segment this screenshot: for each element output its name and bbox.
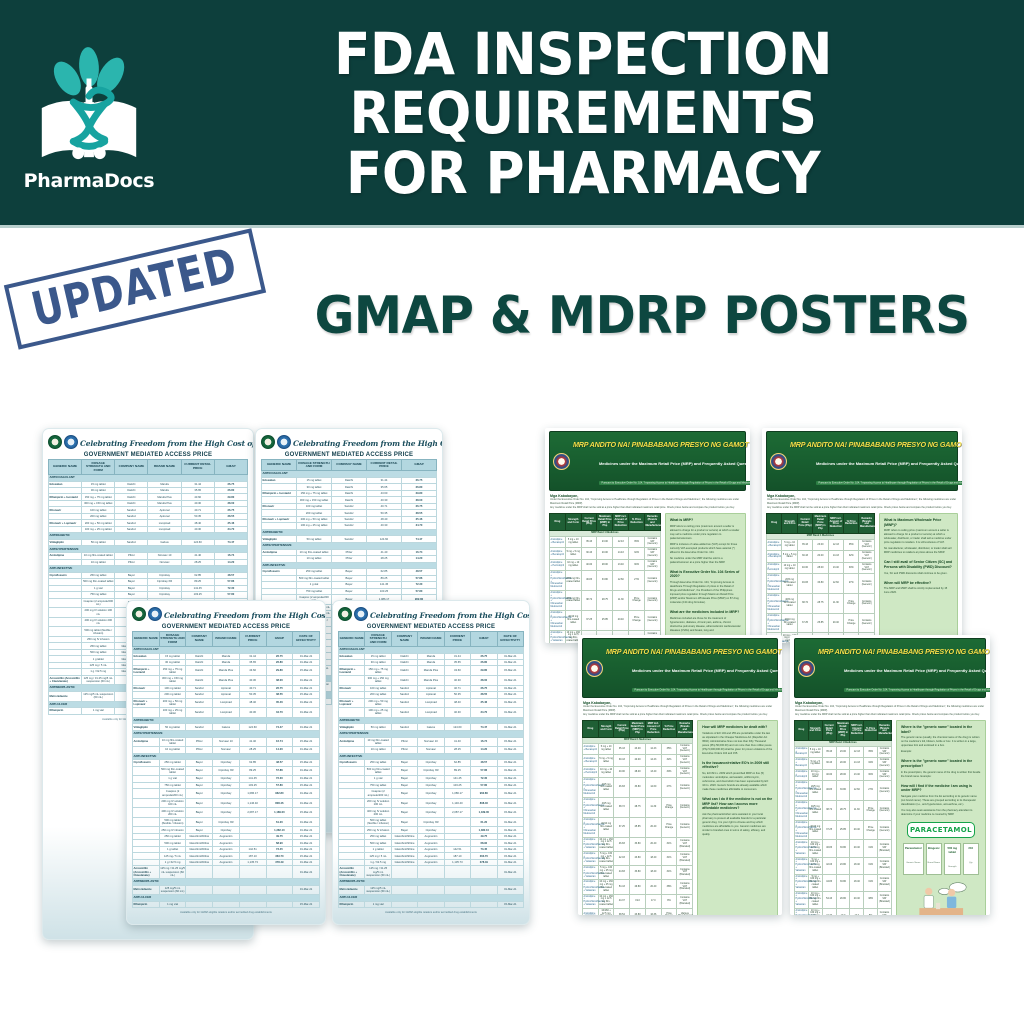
gmap-cell: Rifampicin xyxy=(133,901,160,907)
mdrp-cell: 20.00 xyxy=(630,755,646,766)
mdrp-cell: 20.40 xyxy=(850,840,864,857)
mdrp-cell: 23.00 xyxy=(630,743,646,754)
mdrp-banner-title: MRP ANDITO NA! PINABABANG PRESYO NG GAMO… xyxy=(818,647,990,656)
gmap-cell: 125 mg/5 mL suspension (60 mL) xyxy=(365,885,391,895)
gmap-cell: 01-Mar-21 xyxy=(293,676,320,686)
gmap-category-cell: ANTIHYPERTENSIVE xyxy=(49,546,248,553)
table-row: Amlodipine + Hydrochlorothiazide + Valsa… xyxy=(795,891,892,908)
mdrp-cell: 35.43 xyxy=(581,536,597,547)
gmap-cell: 48.40 xyxy=(239,698,266,708)
gmap-cell: Ciprobay XR xyxy=(418,817,444,827)
mdrp-cell: 5 mg + 10 mg tablet xyxy=(598,743,614,754)
mdrp-cell: Contains VAT (Generic) xyxy=(859,539,874,550)
mdrp-cell: 40/10 mg film-coated tablet xyxy=(598,817,614,837)
mdrp-cell: Price Change xyxy=(661,817,677,837)
gmap-cell: 200 mg + 50 mg tablet xyxy=(159,698,186,708)
mdrp-intro-text-2: Any medicine under the MRP shall not be … xyxy=(795,713,985,717)
mdrp-cell: Amlodipine + Benazepril xyxy=(767,551,782,562)
mdrp-cell: 31% xyxy=(864,840,878,857)
mdrp-cell: 20.40 xyxy=(850,891,864,908)
gmap-col-brand: BRAND NAME xyxy=(213,632,240,647)
gmap-cell: 1,146.40 xyxy=(444,798,470,808)
faq-answer: The generic name (usually, the chemical … xyxy=(901,736,981,748)
gmap-cell: Daiichi xyxy=(391,666,417,676)
table-row: Cuaprex (2 ampoule/200 mL)BayerCiprobay1… xyxy=(339,789,524,799)
table-row: Amlodipine + Perindopril10 mg + 10 mg ta… xyxy=(795,769,892,780)
mdrp-col-amount-reduction: MRP incl. Amount of Price Reduction xyxy=(850,721,864,740)
mdrp-banner: MRP ANDITO NA! PINABABANG PRESYO NG GAMO… xyxy=(549,431,746,491)
gmap-cell xyxy=(133,676,160,686)
table-row: Amlodipine + Benazepril5 mg + 10 mg tabl… xyxy=(767,539,875,550)
republic-seal-icon xyxy=(132,607,146,621)
mdrp-cell: Amlodipine + Hydrochlorothiazide + Valsa… xyxy=(583,880,599,894)
updated-stamp: UPDATED xyxy=(4,228,266,349)
gmap-cell: Metronidazole xyxy=(339,885,365,895)
mdrp-cell: Amlodipine + Hydrochlorothiazide + Olmes… xyxy=(795,820,809,840)
mdrp-cell: 20/5 mg film-coated tablet xyxy=(565,571,581,591)
gmap-col-company: COMPANY NAME xyxy=(391,632,417,647)
mdrp-cell: Amlodipine + Perindopril xyxy=(795,769,809,780)
mdrp-cell: 46.83 xyxy=(614,837,630,851)
mdrp-cell: 10 mg + 10 mg tablet xyxy=(565,559,581,570)
table-row: Amlodipine10 mg film-coated tabletPfizer… xyxy=(133,737,320,747)
table-row: Amlodipine + Hydrochlorothiazide + Olmes… xyxy=(795,800,892,820)
mdrp-cell: 35.43 xyxy=(614,743,630,754)
gmap-cell xyxy=(339,789,365,799)
mdrp-cell: Amlodipine + Hydrochlorothiazide + Valsa… xyxy=(583,894,599,908)
gmap-col-gmap: GMAP xyxy=(471,632,497,647)
gmap-cell: 16.74 xyxy=(471,737,497,747)
gmap-cell: 150 mg + 75 mg tablet xyxy=(365,666,391,676)
mdrp-cell: Contains VAT (Branded) xyxy=(677,880,693,894)
gmap-cell: 1 mg vial xyxy=(159,901,186,907)
mdrp-cell: 12.43 xyxy=(850,746,864,757)
table-row: 400 mg IV solution 200 mLBayerCiprobay2,… xyxy=(339,808,524,818)
table-row: Amlodipine + Benazepril5 mg + 5 mg table… xyxy=(550,548,661,559)
mdrp-cell: Amlodipine + Hydrochlorothiazide + Olmes… xyxy=(550,571,566,591)
gmap-band-title: GOVERNMENT MEDIATED ACCESS PRICE xyxy=(261,452,437,458)
mdrp-cell: 38.72 xyxy=(822,800,836,820)
faq-question: What is Maximum Wholesale Price (MWP)? xyxy=(884,518,953,527)
mdrp-col-strength: Strength and Form xyxy=(782,514,797,533)
table-row: Amlodipine + Hydrochlorothiazide + Valsa… xyxy=(583,837,693,851)
gmap-cell xyxy=(133,808,160,818)
mdrp-cell: 8% xyxy=(661,894,677,908)
mdrp-cell: 28.00 xyxy=(813,562,828,573)
mdrp-cell: 5 mg + 5 mg tablet xyxy=(598,755,614,766)
table-row: 200 mg IV solution 100 mLBayerCiprobay1,… xyxy=(133,798,320,808)
rx-example-name: Biogesic xyxy=(928,846,940,850)
table-row: Amlodipine + Benazepril5 mg + 5 mg table… xyxy=(767,551,875,562)
gmap-cell: Ciprobay xyxy=(213,798,240,808)
gmap-cell: 01-Mar-21 xyxy=(293,866,320,879)
mdrp-cell: 40/10 mg film-coated tablet xyxy=(808,820,822,840)
gmap-cell: 43.60 xyxy=(239,666,266,676)
gmap-category-cell: ANTI-INFECTIVE xyxy=(339,753,524,760)
gmap-cell: Rifampicin + Isoniazid xyxy=(339,666,365,676)
gmap-cell xyxy=(444,817,470,827)
mdrp-cell: 20.00 xyxy=(836,758,850,769)
mdrp-cell: Price Change xyxy=(629,591,645,611)
mdrp-cell: Amlodipine + Benazepril xyxy=(767,539,782,550)
mdrp-col-pct-reduction: % Price Reduction xyxy=(864,721,878,740)
gmap-poster-header: Celebrating Freedom from the High Cost o… xyxy=(338,605,524,622)
mdrp-cell: Contains (Generic) xyxy=(677,798,693,818)
mdrp-cell: 10/160 + 12.5 mg film-coated tablet xyxy=(598,908,614,915)
table-row: Amlodipine + Benazepril5 mg + 5 mg table… xyxy=(583,755,693,766)
mdrp-cell: 31% xyxy=(661,851,677,865)
mdrp-cell: 17.0 xyxy=(645,894,661,908)
mdrp-cell: 31% xyxy=(864,874,878,891)
gmap-cell: Cuaprex (2 ampoule/200 mL) xyxy=(82,598,115,608)
table-row: Amlodipine + Hydrochlorothiazide + Olmes… xyxy=(583,778,693,798)
mdrp-col-pct-reduction: % Price Reduction xyxy=(629,514,645,531)
gmap-category-cell: ANTI-ULCER xyxy=(339,895,524,902)
mdrp-cell: 11.30 xyxy=(850,800,864,820)
gmap-poster-header: Celebrating Freedom from the High Cost o… xyxy=(261,433,437,450)
mdrp-cell: 5 mg + 160 mg + 25 mg film-coated tablet xyxy=(598,866,614,880)
table-row: 500 mg tablet (flexible / infusion)Bayer… xyxy=(133,817,320,827)
mdrp-table-body: MRP Band 1 MedicinesAmlodipine + Benazep… xyxy=(795,740,892,915)
gmap-category-cell: ANTIHYPERTENSIVE xyxy=(262,542,437,549)
gmap-poster-thumbnail-4[interactable]: Celebrating Freedom from the High Cost o… xyxy=(332,600,530,925)
mdrp-cell: 25.85 xyxy=(813,613,828,633)
gmap-poster-header: Celebrating Freedom from the High Cost o… xyxy=(132,605,320,622)
gmap-cell: Sandoz xyxy=(391,698,417,708)
gmap-cell: Bayer xyxy=(186,808,213,818)
mdrp-intro: Mga Kababayan, Under the Executive Order… xyxy=(766,491,958,511)
faq-answer: No, EO 821 s. 2009 which prescribed MRP … xyxy=(702,772,773,792)
gmap-cell: 808.46 xyxy=(471,798,497,808)
mdrp-cell: 38.72 xyxy=(581,591,597,611)
mdrp-cell: 32% xyxy=(629,548,645,559)
mdrp-col-remarks: Remarks (Brands and Manufacturers) xyxy=(644,514,660,531)
mdrp-cell: 31% xyxy=(864,857,878,874)
table-row: ANTI-ULCER xyxy=(339,895,524,902)
gmap-category-cell: ANTICOAGULANT xyxy=(49,474,248,481)
gmap-cell: 89.25 xyxy=(444,766,470,776)
mdrp-table-header-row: Drug Strength and Form Current Retail Pr… xyxy=(795,721,892,740)
mdrp-cell: 31% xyxy=(661,837,677,851)
mdrp-banner-subtitle: Medicines under the Maximum Retail Price… xyxy=(816,461,962,466)
mdrp-cell: 5 mg + 10 mg tablet xyxy=(565,536,581,547)
gmap-cell: 16.74 xyxy=(266,737,293,747)
gmap-cell: 38.00 xyxy=(266,676,293,686)
mdrp-cell: Amlodipine + Hydrochlorothiazide + Olmes… xyxy=(795,781,809,801)
rx-example-label: Strength xyxy=(948,866,956,868)
mdrp-col-current-price: Current Retail Price (Php) xyxy=(581,514,597,531)
mdrp-intro: Mga Kababayan, Under the Executive Order… xyxy=(549,491,746,511)
gmap-cell: Norvasc 10 xyxy=(418,737,444,747)
gmap-cell: 200 mg IV solution 100 mL xyxy=(159,798,186,808)
faq-answer: MWP refers to ceiling price (maximum amo… xyxy=(884,529,953,545)
gmap-category-cell: ANTICOAGULANT xyxy=(133,646,320,653)
mdrp-col-amount-reduction: MRP incl. Amount of Price Reduction xyxy=(645,721,661,738)
mdrp-price-table: Drug Strength and Form Current Retail Pr… xyxy=(549,513,661,643)
faq-answer: In the prescription, the generic name of… xyxy=(901,771,981,779)
gmap-cell: Livopinad xyxy=(213,708,240,718)
mdrp-body: Drug Strength and Form Current Retail Pr… xyxy=(766,513,958,643)
gmap-cell: Amlodipine xyxy=(339,737,365,747)
mdrp-cell: Amlodipine + Benazepril xyxy=(583,743,599,754)
gmap-price-table: GENERIC NAME DOSAGE STRENGTH AND FORM CO… xyxy=(132,631,320,908)
gmap-cell: 01-Mar-21 xyxy=(497,708,523,718)
table-row: Metronidazole125 mg/5 mL suspension (60 … xyxy=(133,885,320,895)
faq-question: Is the issuance/relative EO's in 2009 st… xyxy=(702,761,773,770)
gmap-cell: Ciprobay xyxy=(213,789,240,799)
table-row: Amlodipine + Benazepril5 mg + 10 mg tabl… xyxy=(550,536,661,547)
gmap-cell: Metronidazole xyxy=(49,692,82,702)
gmap-cell xyxy=(391,885,417,895)
table-row: Amlodipine10 mg film-coated tabletPfizer… xyxy=(339,737,524,747)
gmap-cell: 15-Mar-21 xyxy=(293,737,320,747)
mdrp-cell: 40/5 mg film-coated tablet xyxy=(808,800,822,820)
mdrp-col-current-price: Current Retail Price (Php) xyxy=(797,514,812,533)
mdrp-cell: Price Change xyxy=(629,610,645,630)
mdrp-cell: 33.80 xyxy=(597,571,613,591)
gmap-cell xyxy=(339,708,365,718)
faq-answer: MRP is inclusive of value-added tax (VAT… xyxy=(670,543,741,555)
gmap-cell: 300 mg + 150 mg tablet xyxy=(159,676,186,686)
gmap-category-cell: ANTIHYPERTENSIVE xyxy=(339,730,524,737)
mdrp-col-drug: Drug xyxy=(767,514,782,533)
gmap-cell xyxy=(239,901,266,907)
gmap-cell: Rifampicin xyxy=(49,708,82,714)
gmap-col-effectivity: DATE OF EFFECTIVITY xyxy=(293,632,320,647)
poster-gallery: Celebrating Freedom from the High Cost o… xyxy=(0,410,1024,950)
gmap-cell: 43.60 xyxy=(444,666,470,676)
gmap-cell xyxy=(213,901,240,907)
gmap-poster-thumbnail-3[interactable]: Celebrating Freedom from the High Cost o… xyxy=(126,600,326,925)
gmap-cell xyxy=(49,598,82,608)
mdrp-poster-thumbnail-1[interactable]: MRP ANDITO NA! PINABABANG PRESYO NG GAMO… xyxy=(545,428,750,643)
faq-answer: Navigate your medicine from the list acc… xyxy=(901,795,981,807)
mdrp-intro: Mga Kababayan, Under the Executive Order… xyxy=(582,698,778,718)
mdrp-cell: Contains VAT (Generic) xyxy=(644,536,660,547)
prescription-example: ParacetamolGeneric NameBiogesicBrand Nam… xyxy=(903,843,979,875)
gmap-footer-note: Available only for GMAP-eligible retaile… xyxy=(132,908,320,914)
faq-answer: Medicines included are those for the tre… xyxy=(670,617,741,633)
mdrp-cell: Contains VAT (Generic) xyxy=(644,548,660,559)
doh-seal-icon xyxy=(148,607,162,621)
table-row: ANTI-ULCER xyxy=(133,895,320,902)
mdrp-banner-strip: Pursuant to Executive Order No. 104, "Im… xyxy=(816,481,962,485)
gmap-cell xyxy=(133,817,160,827)
table-row: Amlodipine + Hydrochlorothiazide + Valsa… xyxy=(583,851,693,865)
updated-stamp-label: UPDATED xyxy=(27,238,243,338)
gmap-poster-header: Celebrating Freedom from the High Cost o… xyxy=(48,433,248,450)
mdrp-cell: 17.0 xyxy=(850,908,864,915)
mdrp-cell: Amlodipine + Perindopril xyxy=(583,766,599,777)
gmap-cell: Norvasc 10 xyxy=(213,737,240,747)
mdrp-col-drug: Drug xyxy=(795,721,809,740)
gmap-cell: Bayer xyxy=(186,766,213,776)
mdrp-cell: 20.40 xyxy=(645,880,661,894)
mdrp-cell: 29.80 xyxy=(836,891,850,908)
pharmacist-counter-icon xyxy=(910,880,972,915)
faq-question: What are the medicines included in MRP? xyxy=(670,610,741,615)
table-row: Amlodipine + Hydrochlorothiazide + Olmes… xyxy=(767,574,875,594)
table-row: ANTINEOPLASTIC xyxy=(133,878,320,885)
gmap-col-gmap: GMAP xyxy=(266,632,293,647)
gmap-cell: 150 mg + 75 mg tablet xyxy=(159,666,186,676)
page-header: PharmaDocs FDA INSPECTION REQUIREMENTS F… xyxy=(0,0,1024,228)
mdrp-cell: 10 mg + 10 mg tablet xyxy=(782,562,797,573)
gmap-cell: Metronidazole xyxy=(133,885,160,895)
mdrp-poster-thumbnail-3[interactable]: MRP ANDITO NA! PINABABANG PRESYO NG GAMO… xyxy=(578,635,782,915)
mdrp-table-body: MRP Band 1 MedicinesAmlodipine + Benazep… xyxy=(583,737,693,915)
gmap-cell: Ciprobay xyxy=(418,798,444,808)
mdrp-cell: 20.40 xyxy=(828,613,843,633)
mdrp-cell: Contains (Generic) xyxy=(677,778,693,798)
gmap-cell: 15-Mar-21 xyxy=(497,666,523,676)
mdrp-cell: 18.40 xyxy=(850,857,864,874)
mdrp-cell: Price Change xyxy=(661,798,677,818)
mdrp-cell: 40.00 xyxy=(614,766,630,777)
table-row: ANTIDIABETIC xyxy=(133,717,320,724)
gmap-cell xyxy=(418,866,444,879)
gmap-col-generic: GENERIC NAME xyxy=(262,460,297,471)
mdrp-intro-text-2: Any medicine under the MRP shall not be … xyxy=(583,713,777,717)
faq-question: What is MRP? xyxy=(670,518,741,523)
gmap-cell: Pfizer xyxy=(391,737,417,747)
mdrp-cell: 13.40 xyxy=(850,769,864,780)
gmap-category-cell: ANTIHYPERTENSIVE xyxy=(133,730,320,737)
mdrp-cell: 13.40 xyxy=(645,766,661,777)
mdrp-cell: Amlodipine + Benazepril xyxy=(795,746,809,757)
mdrp-cell: 23.00 xyxy=(597,536,613,547)
gmap-cell xyxy=(213,885,240,895)
mdrp-banner-title: MRP ANDITO NA! PINABABANG PRESYO NG GAMO… xyxy=(606,647,782,656)
mdrp-cell: Contains VAT (Generic) xyxy=(677,766,693,777)
gmap-cell: 01-Mar-21 xyxy=(497,698,523,708)
mdrp-cell: 12.43 xyxy=(828,539,843,550)
mdrp-cell: 35% xyxy=(629,536,645,547)
gmap-cell: Livopinad xyxy=(213,698,240,708)
mdrp-cell: 44.37 xyxy=(822,908,836,915)
mdrp-cell: Contains (Generic) xyxy=(878,820,892,840)
table-row: Amlodipine + Benazepril5 mg + 10 mg tabl… xyxy=(795,746,892,757)
gmap-cell xyxy=(266,866,293,879)
gmap-price-table: GENERIC NAME DOSAGE STRENGTH AND FORM CO… xyxy=(338,631,524,908)
gmap-category-cell: ANTIDIABETIC xyxy=(339,717,524,724)
mdrp-cell: 13.40 xyxy=(613,559,629,570)
gmap-category-cell: ANTIDIABETIC xyxy=(133,717,320,724)
gmap-cell: 35.46 xyxy=(266,698,293,708)
table-row: ANTICOAGULANT xyxy=(262,471,437,478)
table-row: Amlodipine + Hydrochlorothiazide + Olmes… xyxy=(795,820,892,840)
gmap-cell: 125 mg/5 mL suspension (60 mL) xyxy=(159,885,186,895)
gmap-cell: Livopinad xyxy=(418,698,444,708)
mdrp-cell: 38% xyxy=(864,891,878,908)
faq-answer: No medicine under the MRP shall be sold … xyxy=(670,557,741,565)
mdrp-col-mrp: Maximum Retail Price (MRP) in Php xyxy=(836,721,850,740)
mdrp-cell: Contains VAT (Branded) xyxy=(878,908,892,915)
gmap-cell: 01-Mar-21 xyxy=(293,766,320,776)
mdrp-cell: 28.75 xyxy=(597,591,613,611)
gmap-cell: Ciprobay XR xyxy=(418,766,444,776)
mdrp-cell: 28.00 xyxy=(836,769,850,780)
mdrp-cell: Amlodipine + Hydrochlorothiazide + Olmes… xyxy=(583,798,599,818)
mdrp-cell: 12.60 xyxy=(645,778,661,798)
mdrp-cell: Price Change xyxy=(864,800,878,820)
mdrp-cell: 20.40 xyxy=(850,820,864,840)
mdrp-cell: 14.43 xyxy=(645,755,661,766)
gmap-cell: 400 mg IV solution 200 mL xyxy=(365,808,391,818)
gmap-cell: 1,189.00 xyxy=(266,808,293,818)
gmap-cell: Bayer xyxy=(391,789,417,799)
gmap-cell: 34.70 xyxy=(471,708,497,718)
republic-of-the-philippines-seal-icon xyxy=(586,660,603,677)
mdrp-intro: Mga Kababayan, Under the Executive Order… xyxy=(794,698,986,718)
mdrp-cell: Contains (Generic) xyxy=(878,781,892,801)
mdrp-cell: 20.40 xyxy=(613,610,629,630)
page-title-line-2: FOR PHARMACY xyxy=(201,144,965,203)
faq-question: Where is the "generic name" located in t… xyxy=(901,759,981,768)
table-row: Amlodipine + Benazepril5 mg + 10 mg tabl… xyxy=(583,743,693,754)
mdrp-cell: 31% xyxy=(661,866,677,880)
republic-seal-icon xyxy=(338,607,352,621)
gmap-cell: 01-Mar-21 xyxy=(497,766,523,776)
gmap-cell xyxy=(239,817,266,827)
gmap-cell xyxy=(471,901,497,907)
mdrp-cell: Contains VAT (Branded) xyxy=(878,874,892,891)
mdrp-banner: MRP ANDITO NA! PINABABANG PRESYO NG GAMO… xyxy=(766,431,958,491)
faq-question: Where is the "generic name" located in t… xyxy=(901,725,981,734)
faq-answer: Ask the pharmacist/other store assistant… xyxy=(702,813,773,837)
gmap-cell: 2,087.17 xyxy=(444,808,470,818)
gmap-col-dosage: DOSAGE STRENGTH AND FORM xyxy=(82,460,115,475)
mdrp-cell: Contains VAT (Generic) xyxy=(644,559,660,570)
faq-question: What is Executive Order No. 104 Series o… xyxy=(670,570,741,579)
gmap-cell xyxy=(391,901,417,907)
mdrp-poster-thumbnail-4[interactable]: MRP ANDITO NA! PINABABANG PRESYO NG GAMO… xyxy=(790,635,990,915)
faq-answer: You may also seek assistance from the ph… xyxy=(901,809,981,817)
mdrp-cell: 23.00 xyxy=(813,539,828,550)
mdrp-cell: Price Change xyxy=(864,820,878,840)
mdrp-cell: 42.03 xyxy=(614,851,630,865)
section-heading: GMAP & MDRP POSTERS xyxy=(315,286,970,346)
rx-example-label: Generic Name xyxy=(906,862,920,864)
mdrp-cell: Amlodipine + Hydrochlorothiazide + Valsa… xyxy=(583,866,599,880)
brand-logo: PharmaDocs xyxy=(14,42,164,192)
gmap-cell: 01-Mar-21 xyxy=(293,698,320,708)
table-row: 300 mg + 150 mg tabletDaiichiMarufa Plus… xyxy=(339,676,524,686)
table-row: ANTI-INFECTIVE xyxy=(49,566,248,573)
mdrp-cell: 30% xyxy=(864,769,878,780)
faq-question: How will I find if the medicine I am usi… xyxy=(901,784,981,793)
gmap-category-cell: ANTICOAGULANT xyxy=(339,646,524,653)
mdrp-cell: Amlodipine + Hydrochlorothiazide + Valsa… xyxy=(583,837,599,851)
mdrp-cell: Contains VAT (Generic) xyxy=(677,755,693,766)
mdrp-cell: 5 mg + 160 mg + 12.5 mg film-coated tabl… xyxy=(808,857,822,874)
gmap-cell xyxy=(471,866,497,879)
republic-of-the-philippines-seal-icon xyxy=(770,453,787,470)
mdrp-cell: 28.75 xyxy=(813,593,828,613)
mdrp-cell: 29.80 xyxy=(630,880,646,894)
mdrp-cell: Contains (Generic) xyxy=(677,817,693,837)
page-title: FDA INSPECTION REQUIREMENTS FOR PHARMACY xyxy=(164,25,1024,202)
gmap-cell: 300 mg + 150 mg tablet xyxy=(365,676,391,686)
gmap-col-gmap: GMAP xyxy=(402,460,437,471)
gmap-cell xyxy=(266,901,293,907)
mdrp-col-mrp: Maximum Retail Price (MRP) in Php xyxy=(597,514,613,531)
table-row: Amlodipine + Hydrochlorothiazide + Valsa… xyxy=(795,840,892,857)
mdrp-poster-thumbnail-2[interactable]: MRP ANDITO NA! PINABABANG PRESYO NG GAMO… xyxy=(762,428,962,643)
mdrp-cell: Contains VAT (Branded) xyxy=(878,840,892,857)
rx-example-cell: 500 mg tabletStrength xyxy=(944,843,960,875)
table-row: Amlodipine + Perindopril10 mg + 10 mg ta… xyxy=(767,562,875,573)
